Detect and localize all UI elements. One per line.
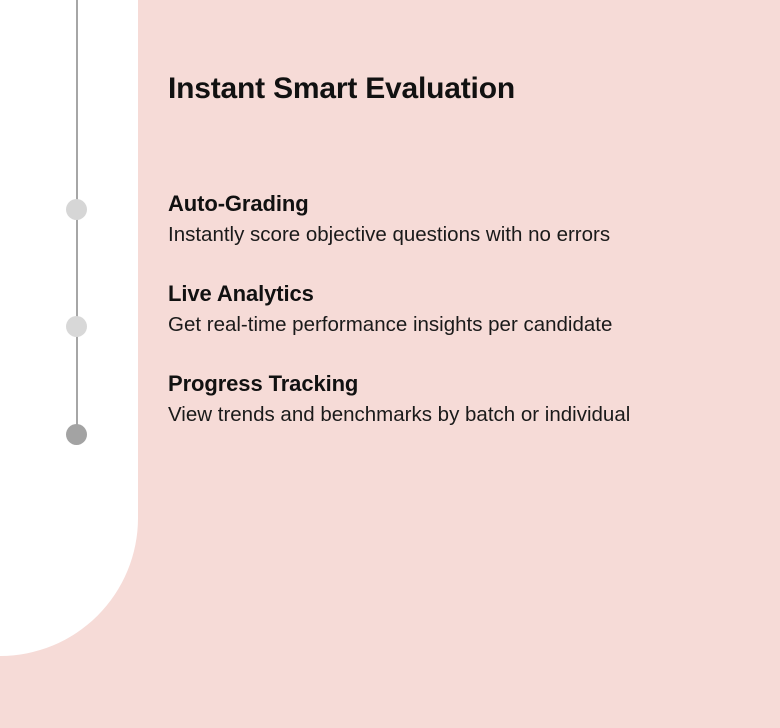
feature-title: Auto-Grading (168, 190, 768, 218)
feature-title: Progress Tracking (168, 370, 768, 398)
content-column: Instant Smart Evaluation Auto-Grading In… (168, 0, 768, 728)
timeline-dot-2[interactable] (66, 316, 87, 337)
timeline-dot-1[interactable] (66, 199, 87, 220)
feature-item-progress-tracking: Progress Tracking View trends and benchm… (168, 370, 768, 428)
feature-description: View trends and benchmarks by batch or i… (168, 402, 768, 429)
timeline-rail (0, 0, 138, 656)
feature-list: Auto-Grading Instantly score objective q… (168, 190, 768, 428)
feature-description: Get real-time performance insights per c… (168, 312, 768, 339)
page-title: Instant Smart Evaluation (168, 71, 515, 107)
feature-description: Instantly score objective questions with… (168, 222, 768, 249)
feature-title: Live Analytics (168, 280, 768, 308)
timeline-dot-3[interactable] (66, 424, 87, 445)
slide-container: Instant Smart Evaluation Auto-Grading In… (0, 0, 780, 728)
feature-item-auto-grading: Auto-Grading Instantly score objective q… (168, 190, 768, 248)
feature-item-live-analytics: Live Analytics Get real-time performance… (168, 280, 768, 338)
